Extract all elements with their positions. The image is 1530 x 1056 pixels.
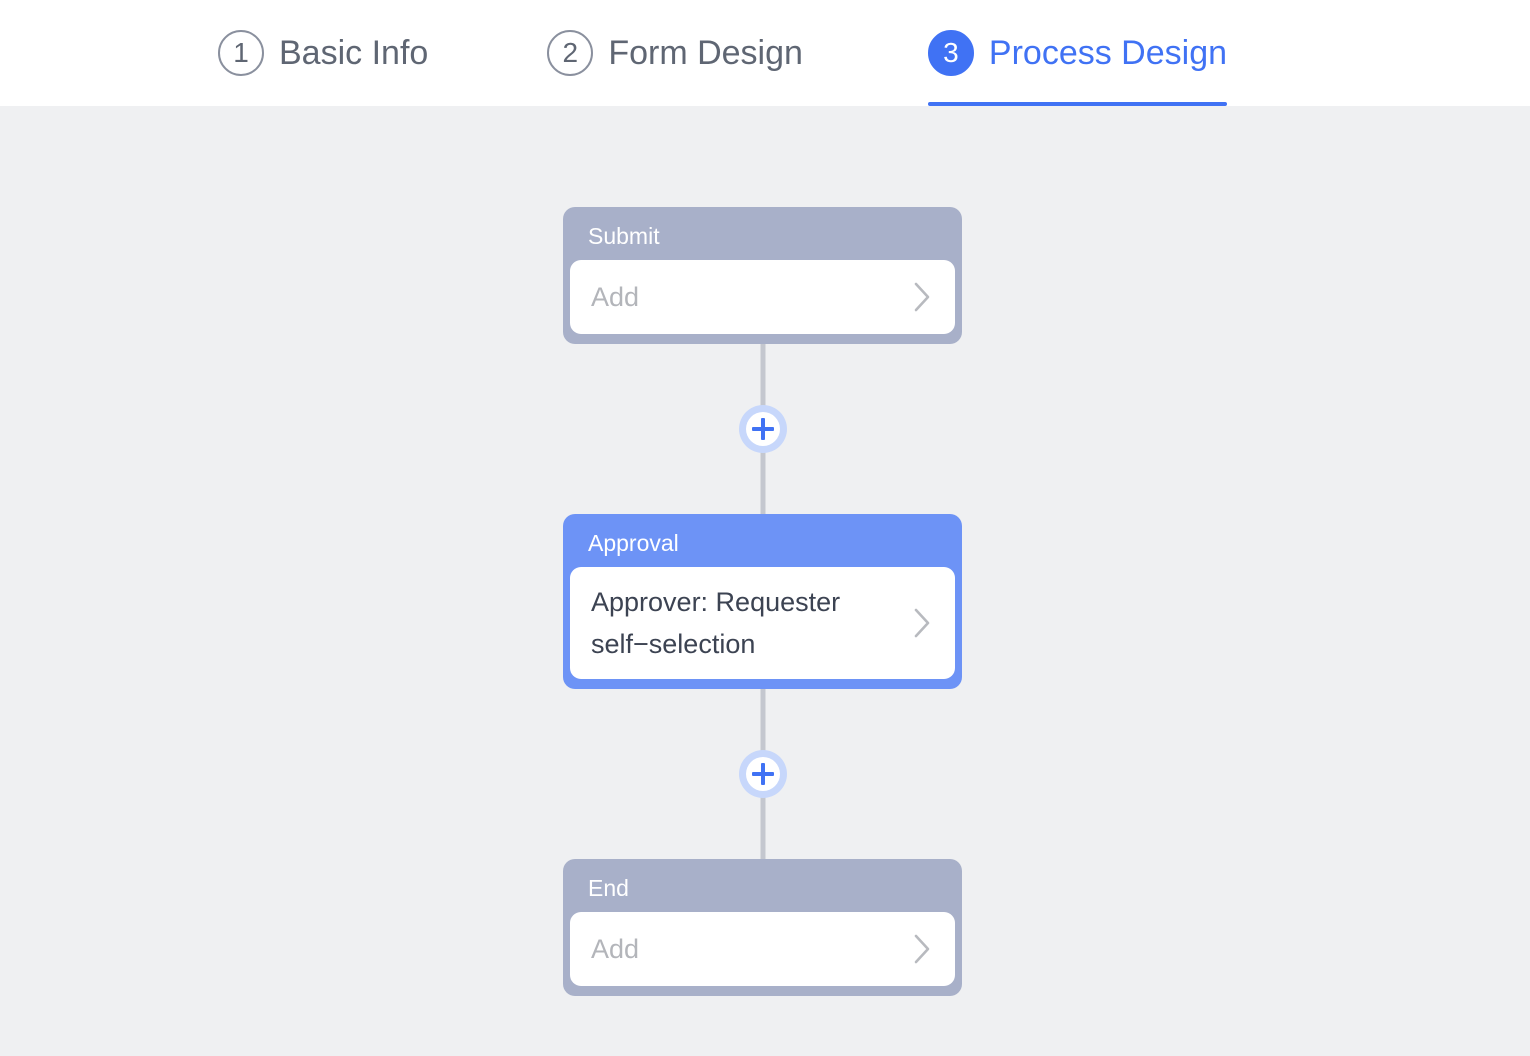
tab-basic-info-content: 1 Basic Info: [218, 11, 428, 95]
node-end[interactable]: End Add: [563, 859, 962, 996]
node-end-value: Add: [591, 928, 639, 970]
tab-form-design[interactable]: 2 Form Design: [547, 0, 803, 106]
tab-process-design-label: Process Design: [989, 36, 1227, 70]
node-end-body[interactable]: Add: [570, 912, 955, 986]
node-submit-value: Add: [591, 276, 639, 318]
step-badge-3: 3: [928, 30, 974, 76]
connector-approval-end: [563, 689, 962, 859]
node-approval-body[interactable]: Approver: Requester self−selection: [570, 567, 955, 679]
node-end-title: End: [570, 869, 955, 912]
node-submit-title: Submit: [570, 217, 955, 260]
tab-form-design-label: Form Design: [608, 36, 803, 70]
add-node-button-2[interactable]: [739, 750, 787, 798]
process-flow: Submit Add Approval Approver: Requester …: [563, 207, 962, 996]
connector-submit-approval: [563, 344, 962, 514]
plus-icon: [746, 757, 780, 791]
step-badge-1: 1: [218, 30, 264, 76]
tab-form-design-content: 2 Form Design: [547, 11, 803, 95]
chevron-right-icon: [913, 607, 933, 639]
node-submit[interactable]: Submit Add: [563, 207, 962, 344]
process-canvas: Submit Add Approval Approver: Requester …: [0, 106, 1530, 1056]
tab-process-design[interactable]: 3 Process Design: [928, 0, 1227, 106]
tab-basic-info-label: Basic Info: [279, 36, 428, 70]
tab-basic-info[interactable]: 1 Basic Info: [218, 0, 428, 106]
node-approval-title: Approval: [570, 524, 955, 567]
step-header: 1 Basic Info 2 Form Design 3 Process Des…: [0, 0, 1530, 106]
plus-icon: [746, 412, 780, 446]
step-badge-2: 2: [547, 30, 593, 76]
node-submit-body[interactable]: Add: [570, 260, 955, 334]
chevron-right-icon: [913, 933, 933, 965]
add-node-button-1[interactable]: [739, 405, 787, 453]
tab-process-design-content: 3 Process Design: [928, 11, 1227, 95]
node-approval[interactable]: Approval Approver: Requester self−select…: [563, 514, 962, 689]
node-approval-value: Approver: Requester self−selection: [591, 581, 881, 665]
chevron-right-icon: [913, 281, 933, 313]
